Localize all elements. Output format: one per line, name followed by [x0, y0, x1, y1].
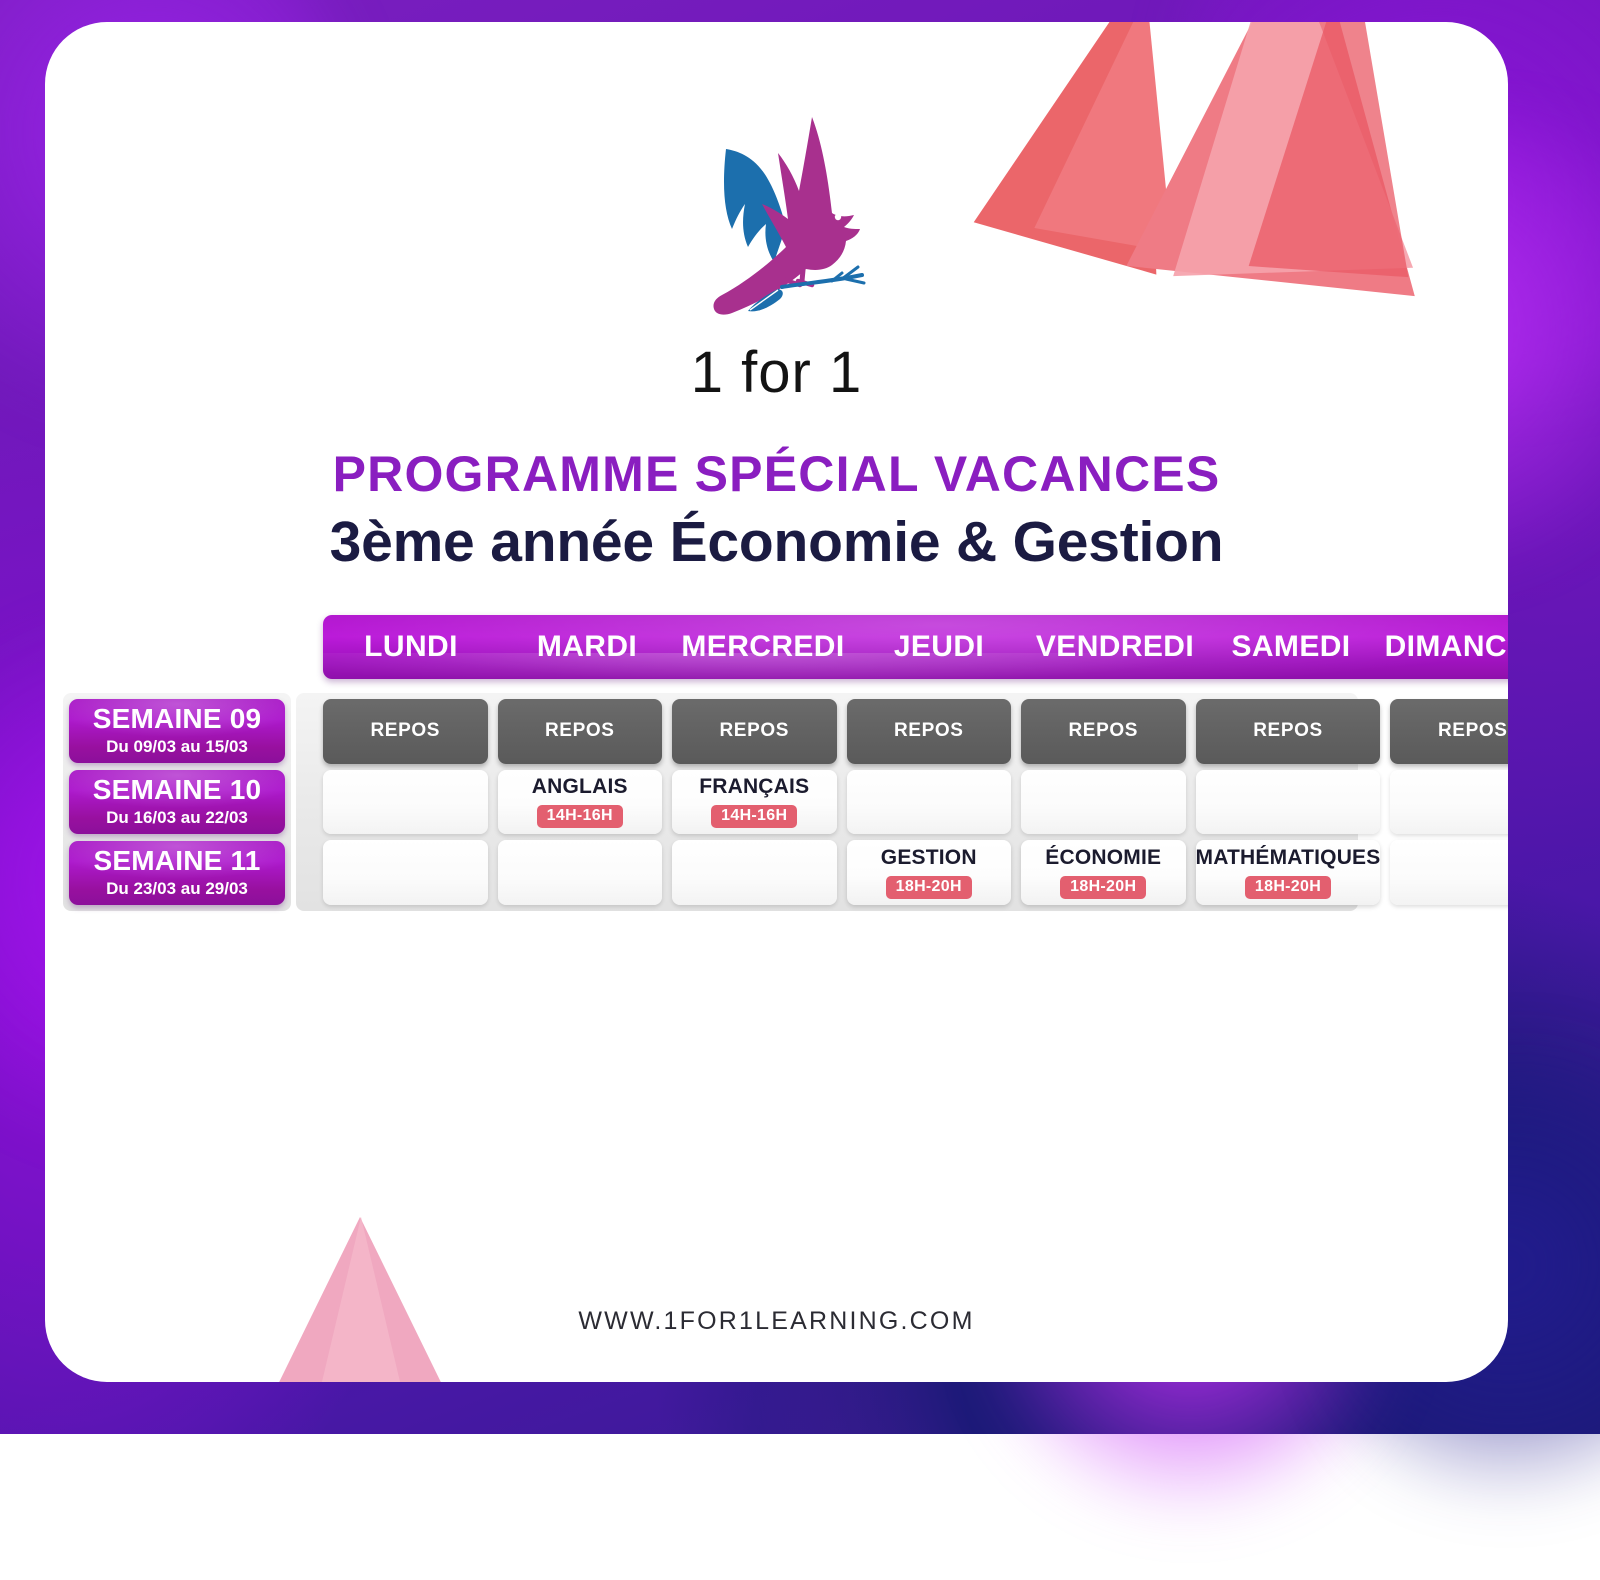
course-time-badge: 18H-20H	[1060, 876, 1146, 899]
day-header-row: LUNDIMARDIMERCREDIJEUDIVENDREDISAMEDIDIM…	[323, 615, 1508, 679]
schedule-cell-empty[interactable]	[1390, 840, 1508, 905]
course-time-badge: 14H-16H	[537, 805, 623, 828]
schedule-cell-rest[interactable]: REPOS	[672, 699, 837, 764]
rest-label: REPOS	[545, 720, 615, 742]
course-name: ANGLAIS	[532, 776, 628, 798]
schedule-cell-course[interactable]: GESTION18H-20H	[847, 840, 1012, 905]
schedule-cell-rest[interactable]: REPOS	[847, 699, 1012, 764]
course-time-badge: 18H-20H	[886, 876, 972, 899]
schedule-cell-empty[interactable]	[323, 770, 488, 835]
schedule-cell-course[interactable]: ANGLAIS14H-16H	[498, 770, 663, 835]
rest-label: REPOS	[894, 720, 964, 742]
bird-on-branch-icon	[682, 107, 872, 337]
day-header-mercredi: MERCREDI	[675, 615, 851, 679]
schedule-grid: REPOSREPOSREPOSREPOSREPOSREPOSREPOSANGLA…	[323, 693, 1508, 911]
week-title: SEMAINE 09	[93, 705, 262, 734]
schedule-table: LUNDIMARDIMERCREDIJEUDIVENDREDISAMEDIDIM…	[55, 587, 1508, 932]
week-label-3: SEMAINE 11Du 23/03 au 29/03	[69, 841, 285, 905]
course-name: GESTION	[881, 847, 977, 869]
schedule-cell-course[interactable]: ÉCONOMIE18H-20H	[1021, 840, 1186, 905]
footer-website-url: WWW.1FOR1LEARNING.COM	[45, 1307, 1508, 1336]
week-title: SEMAINE 11	[94, 847, 261, 876]
day-header-lundi: LUNDI	[323, 615, 499, 679]
schedule-cell-rest[interactable]: REPOS	[498, 699, 663, 764]
decorative-triangle-bottom-2	[303, 1217, 419, 1382]
poster-card: 1 for 1 PROGRAMME SPÉCIAL VACANCES 3ème …	[45, 22, 1508, 1382]
rest-label: REPOS	[370, 720, 440, 742]
course-time-badge: 14H-16H	[711, 805, 797, 828]
page-title: PROGRAMME SPÉCIAL VACANCES	[45, 445, 1508, 503]
schedule-cell-rest[interactable]: REPOS	[1196, 699, 1381, 764]
schedule-cell-course[interactable]: FRANÇAIS14H-16H	[672, 770, 837, 835]
day-header-samedi: SAMEDI	[1203, 615, 1379, 679]
schedule-cell-rest[interactable]: REPOS	[1021, 699, 1186, 764]
week-label-1: SEMAINE 09Du 09/03 au 15/03	[69, 699, 285, 763]
schedule-cell-empty[interactable]	[1196, 770, 1381, 835]
rest-label: REPOS	[719, 720, 789, 742]
page-subtitle: 3ème année Économie & Gestion	[45, 509, 1508, 575]
schedule-cell-empty[interactable]	[323, 840, 488, 905]
week-label-2: SEMAINE 10Du 16/03 au 22/03	[69, 770, 285, 834]
schedule-cell-empty[interactable]	[672, 840, 837, 905]
brand-logo: 1 for 1	[45, 107, 1508, 406]
week-date-range: Du 23/03 au 29/03	[106, 879, 248, 899]
day-header-mardi: MARDI	[499, 615, 675, 679]
course-name: FRANÇAIS	[699, 776, 809, 798]
course-name: MATHÉMATIQUES	[1196, 847, 1381, 869]
course-name: ÉCONOMIE	[1045, 847, 1161, 869]
schedule-cell-rest[interactable]: REPOS	[323, 699, 488, 764]
schedule-cell-course[interactable]: MATHÉMATIQUES18H-20H	[1196, 840, 1381, 905]
week-date-range: Du 09/03 au 15/03	[106, 737, 248, 757]
day-header-vendredi: VENDREDI	[1027, 615, 1203, 679]
schedule-cell-empty[interactable]	[847, 770, 1012, 835]
week-title: SEMAINE 10	[93, 776, 262, 805]
schedule-cell-empty[interactable]	[1390, 770, 1508, 835]
rest-label: REPOS	[1253, 720, 1323, 742]
course-time-badge: 18H-20H	[1245, 876, 1331, 899]
rest-label: REPOS	[1438, 720, 1508, 742]
rest-label: REPOS	[1068, 720, 1138, 742]
schedule-cell-empty[interactable]	[498, 840, 663, 905]
schedule-cell-rest[interactable]: REPOS	[1390, 699, 1508, 764]
brand-wordmark: 1 for 1	[45, 339, 1508, 406]
week-date-range: Du 16/03 au 22/03	[106, 808, 248, 828]
day-header-jeudi: JEUDI	[851, 615, 1027, 679]
day-header-dimanche: DIMANCHE	[1379, 615, 1508, 679]
schedule-cell-empty[interactable]	[1021, 770, 1186, 835]
